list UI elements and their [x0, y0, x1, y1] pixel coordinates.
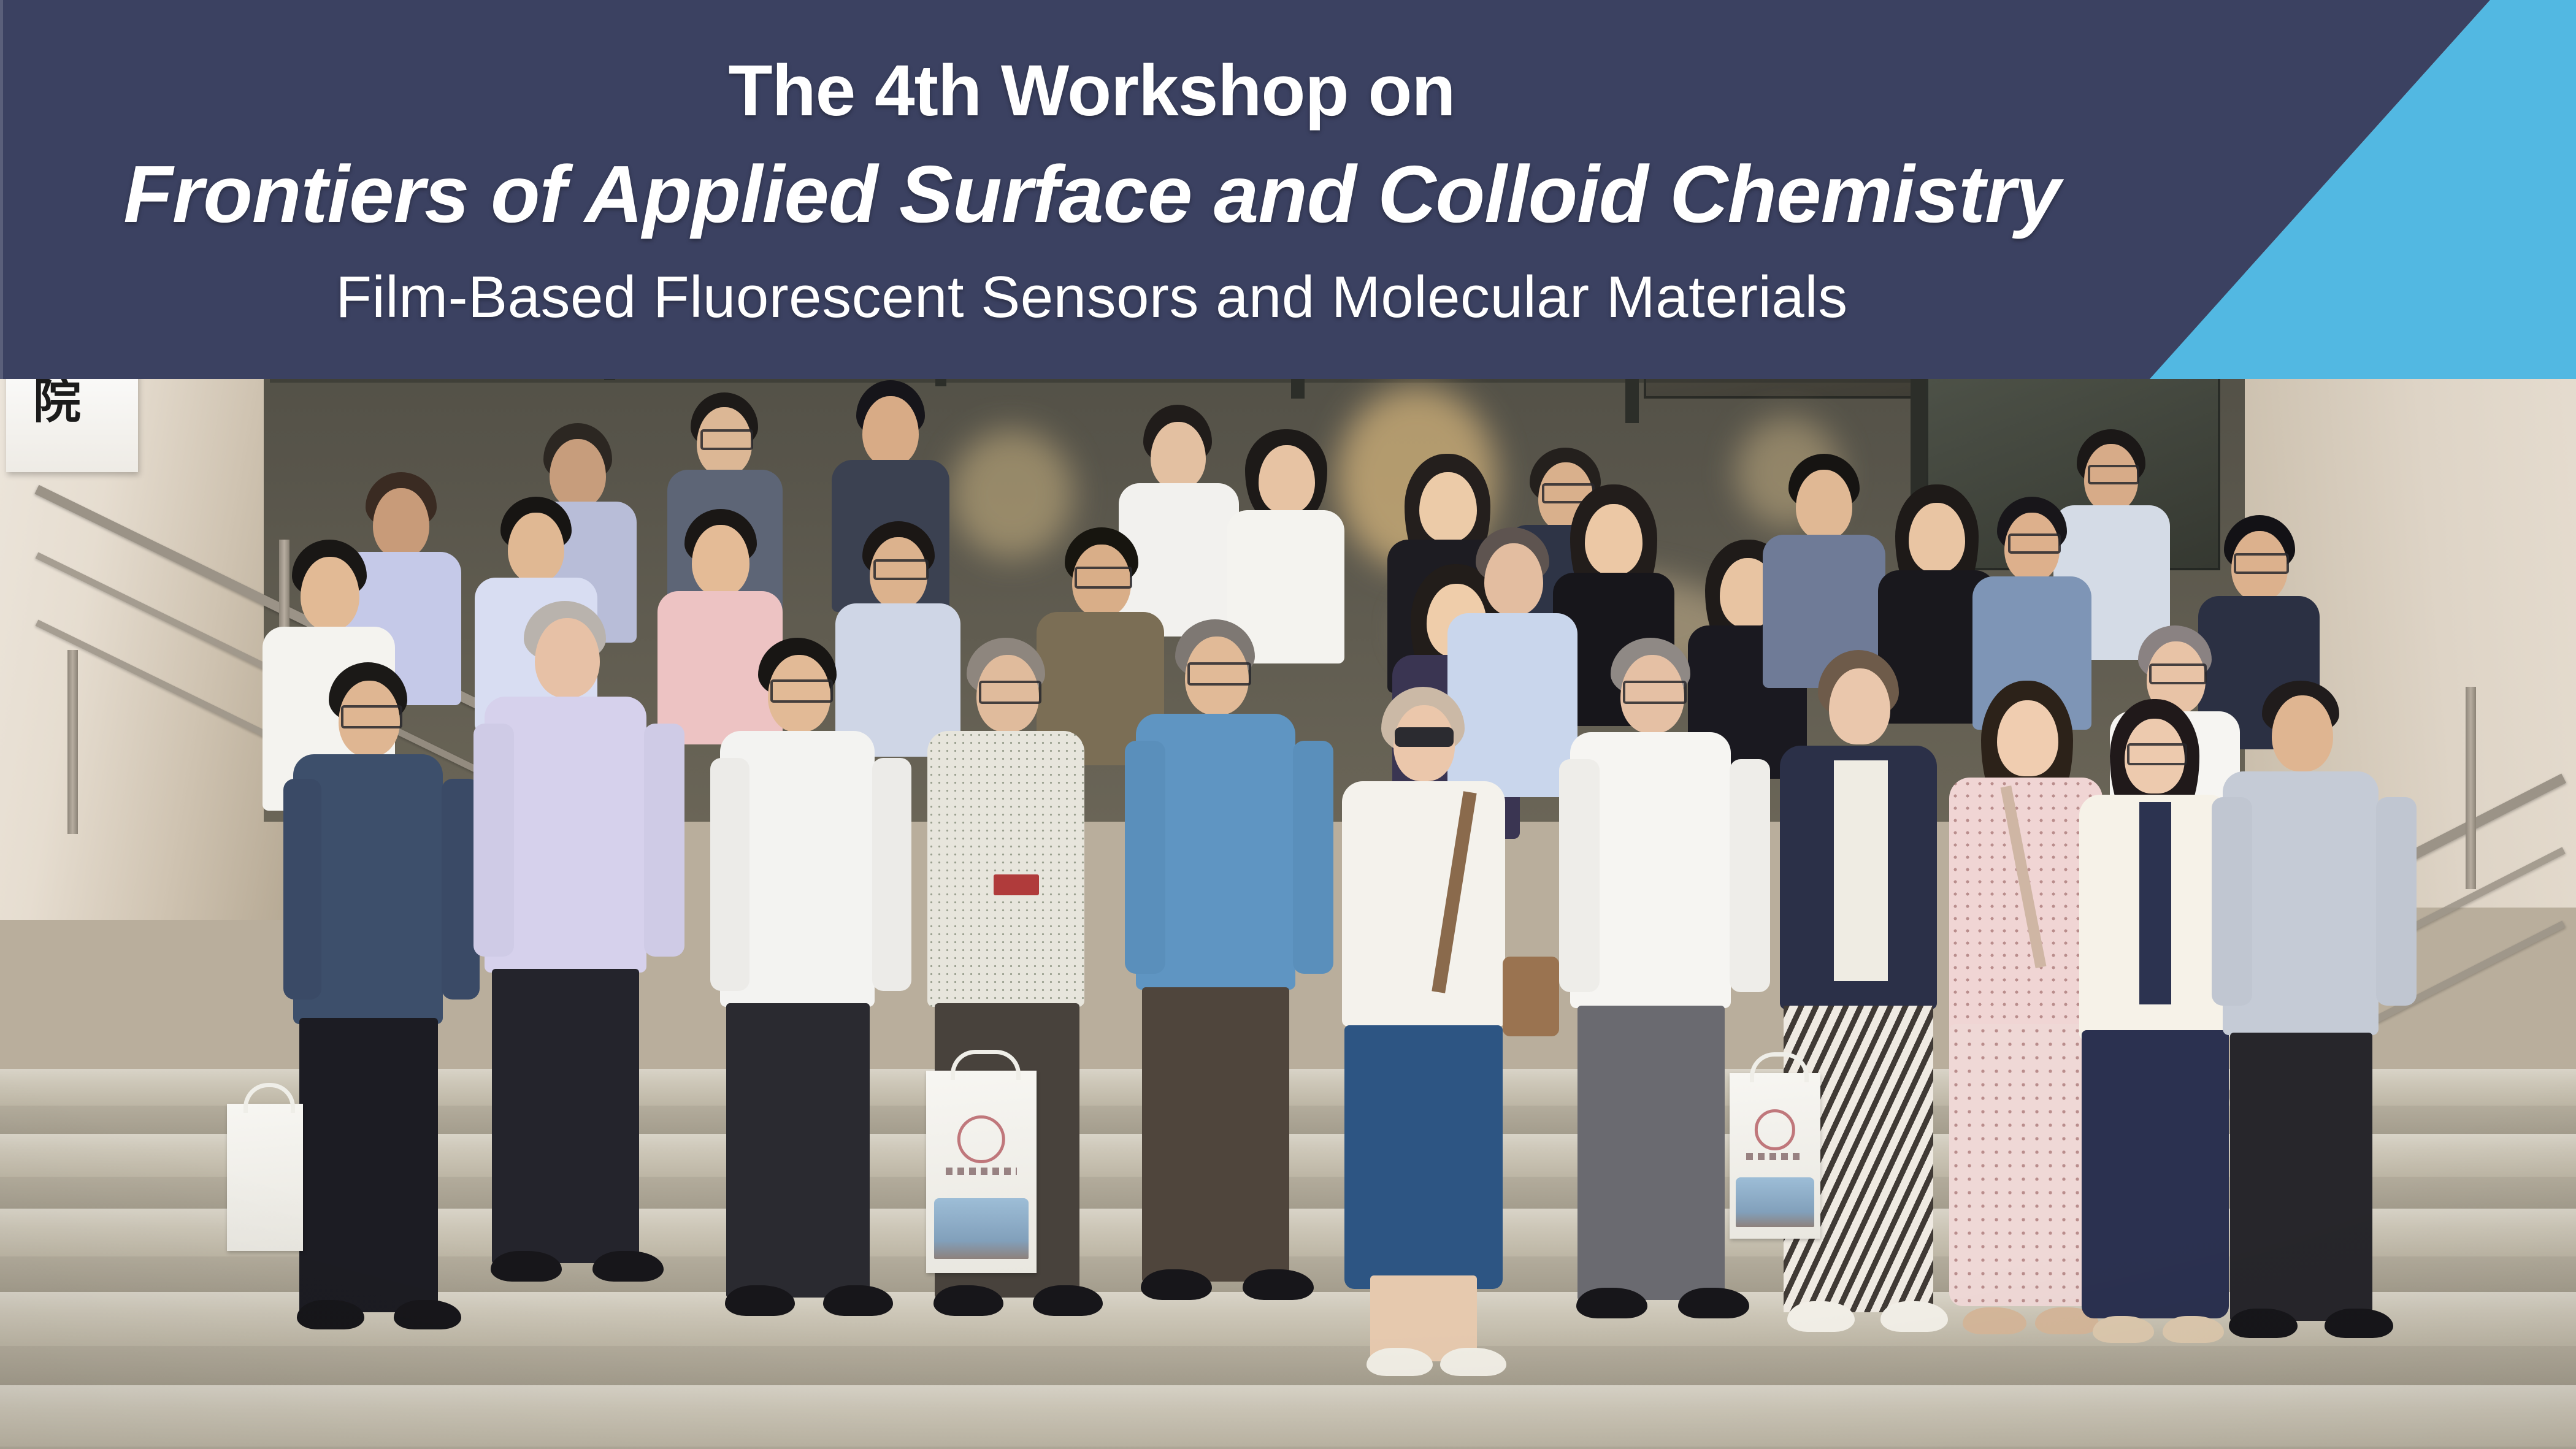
conference-banner-poster: 院	[0, 0, 2576, 1449]
dress-skirt	[2082, 1030, 2229, 1318]
tote-bag	[1730, 1073, 1820, 1239]
dress-front	[2139, 802, 2171, 1004]
blouse	[1834, 760, 1888, 981]
title-banner: The 4th Workshop on Frontiers of Applied…	[0, 0, 2576, 379]
banner-text-block: The 4th Workshop on Frontiers of Applied…	[0, 0, 2183, 379]
tote-logo	[957, 1115, 1005, 1163]
tote-wordmark	[946, 1168, 1016, 1175]
tote-building-illustration	[934, 1198, 1029, 1259]
workshop-main-title: Frontiers of Applied Surface and Colloid…	[123, 154, 2060, 235]
handbag	[1503, 957, 1559, 1036]
sunglasses-icon	[1395, 727, 1454, 747]
skirt	[1344, 1025, 1503, 1289]
tote-bag	[227, 1104, 303, 1251]
tote-bag	[926, 1071, 1037, 1273]
tote-logo	[1755, 1109, 1795, 1150]
name-badge	[994, 874, 1039, 895]
workshop-edition-title: The 4th Workshop on	[728, 55, 1455, 127]
workshop-subtitle: Film-Based Fluorescent Sensors and Molec…	[335, 268, 1847, 327]
handrail-post	[67, 650, 78, 834]
building-nameplate: 院	[6, 368, 138, 472]
tote-wordmark	[1746, 1153, 1804, 1160]
tote-building-illustration	[1736, 1177, 1814, 1227]
handrail-post	[2466, 687, 2476, 889]
